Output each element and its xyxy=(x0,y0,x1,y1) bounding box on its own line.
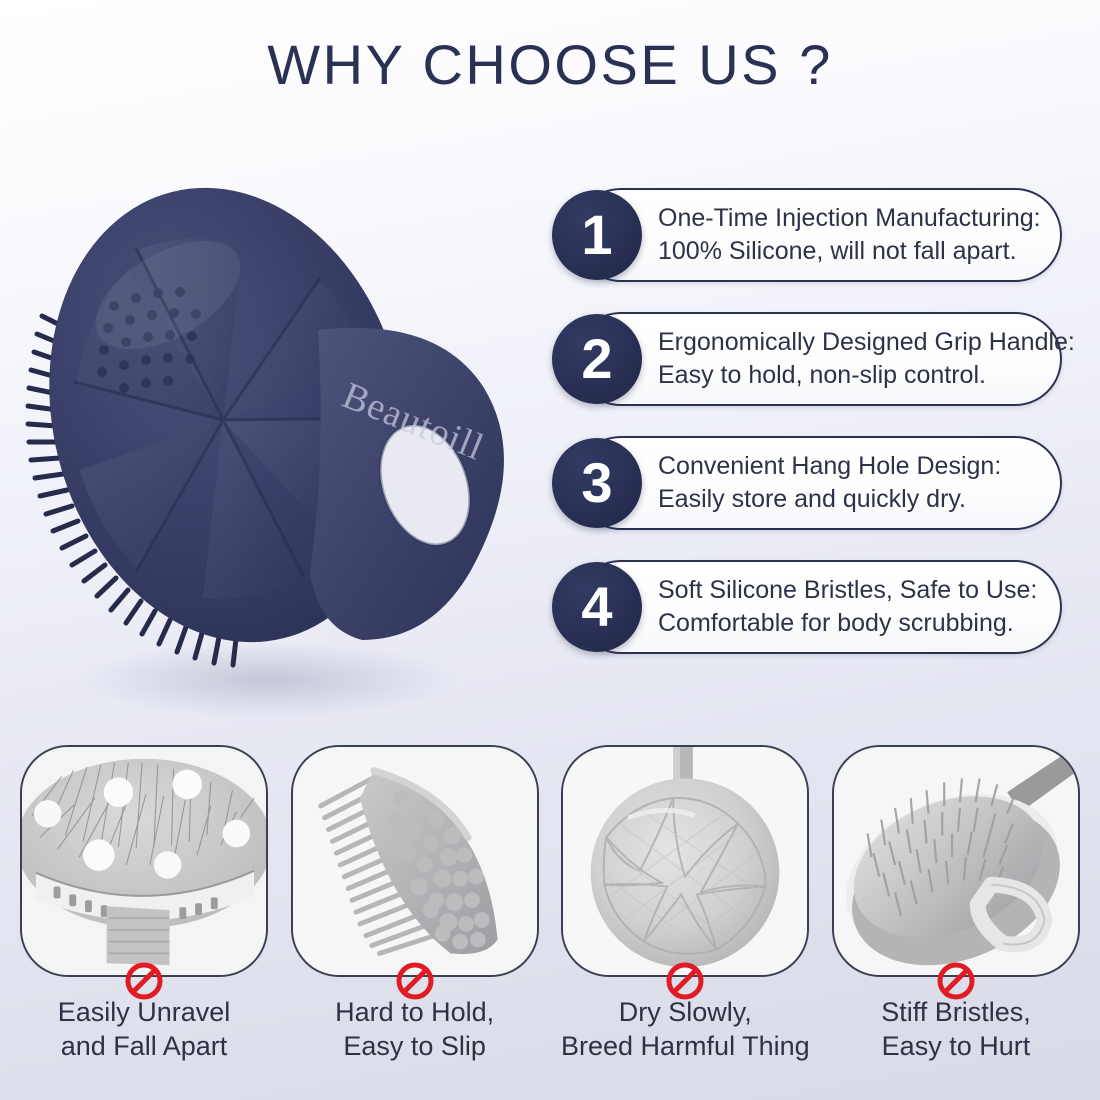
feature-item-1[interactable]: 1 One-Time Injection Manufacturing: 100%… xyxy=(552,188,1062,282)
prohibited-icon xyxy=(936,961,976,1001)
feature-title: One-Time Injection Manufacturing: xyxy=(658,202,1036,235)
comparison-caption-4: Stiff Bristles, Easy to Hurt xyxy=(881,995,1031,1063)
loofah-brush-with-nubs-photo xyxy=(20,745,268,977)
comparison-row: Easily Unravel and Fall Apart xyxy=(0,745,1100,1100)
feature-number-badge-1: 1 xyxy=(552,190,642,280)
feature-title: Convenient Hang Hole Design: xyxy=(658,450,1036,483)
comparison-caption-3: Dry Slowly, Breed Harmful Thing xyxy=(561,995,810,1063)
feature-subtitle: Comfortable for body scrubbing. xyxy=(658,607,1036,640)
feature-number-badge-2: 2 xyxy=(552,314,642,404)
prohibited-icon xyxy=(665,961,705,1001)
prohibited-icon xyxy=(395,961,435,1001)
comparison-card-3[interactable]: Dry Slowly, Breed Harmful Thing xyxy=(557,745,813,1100)
feature-text-4: Soft Silicone Bristles, Safe to Use: Com… xyxy=(658,574,1036,640)
feature-text-3: Convenient Hang Hole Design: Easily stor… xyxy=(658,450,1036,516)
comparison-caption-2: Hard to Hold, Easy to Slip xyxy=(335,995,494,1063)
feature-list: 1 One-Time Injection Manufacturing: 100%… xyxy=(552,188,1062,684)
feature-item-4[interactable]: 4 Soft Silicone Bristles, Safe to Use: C… xyxy=(552,560,1062,654)
feature-text-2: Ergonomically Designed Grip Handle: Easy… xyxy=(658,326,1036,392)
prohibited-icon xyxy=(124,961,164,1001)
feature-item-3[interactable]: 3 Convenient Hang Hole Design: Easily st… xyxy=(552,436,1062,530)
feature-text-1: One-Time Injection Manufacturing: 100% S… xyxy=(658,202,1036,268)
feature-number-badge-4: 4 xyxy=(552,562,642,652)
product-shadow xyxy=(78,642,458,718)
feature-subtitle: 100% Silicone, will not fall apart. xyxy=(658,235,1036,268)
comparison-caption-1: Easily Unravel and Fall Apart xyxy=(58,995,231,1063)
comparison-card-2[interactable]: Hard to Hold, Easy to Slip xyxy=(287,745,543,1100)
feature-subtitle: Easy to hold, non-slip control. xyxy=(658,359,1036,392)
feature-number-badge-3: 3 xyxy=(552,438,642,528)
gray-silicone-scrubber-photo xyxy=(291,745,539,977)
mesh-loofah-ball-photo xyxy=(561,745,809,977)
product-hero-image: Beautoill xyxy=(18,120,538,720)
page-title: WHY CHOOSE US ? xyxy=(0,32,1100,97)
feature-title: Soft Silicone Bristles, Safe to Use: xyxy=(658,574,1036,607)
comparison-card-1[interactable]: Easily Unravel and Fall Apart xyxy=(16,745,272,1100)
feature-title: Ergonomically Designed Grip Handle: xyxy=(658,326,1036,359)
comparison-card-4[interactable]: Stiff Bristles, Easy to Hurt xyxy=(828,745,1084,1100)
feature-item-2[interactable]: 2 Ergonomically Designed Grip Handle: Ea… xyxy=(552,312,1062,406)
stiff-bristle-brush-photo xyxy=(832,745,1080,977)
infographic-page: WHY CHOOSE US ? xyxy=(0,0,1100,1100)
feature-subtitle: Easily store and quickly dry. xyxy=(658,483,1036,516)
